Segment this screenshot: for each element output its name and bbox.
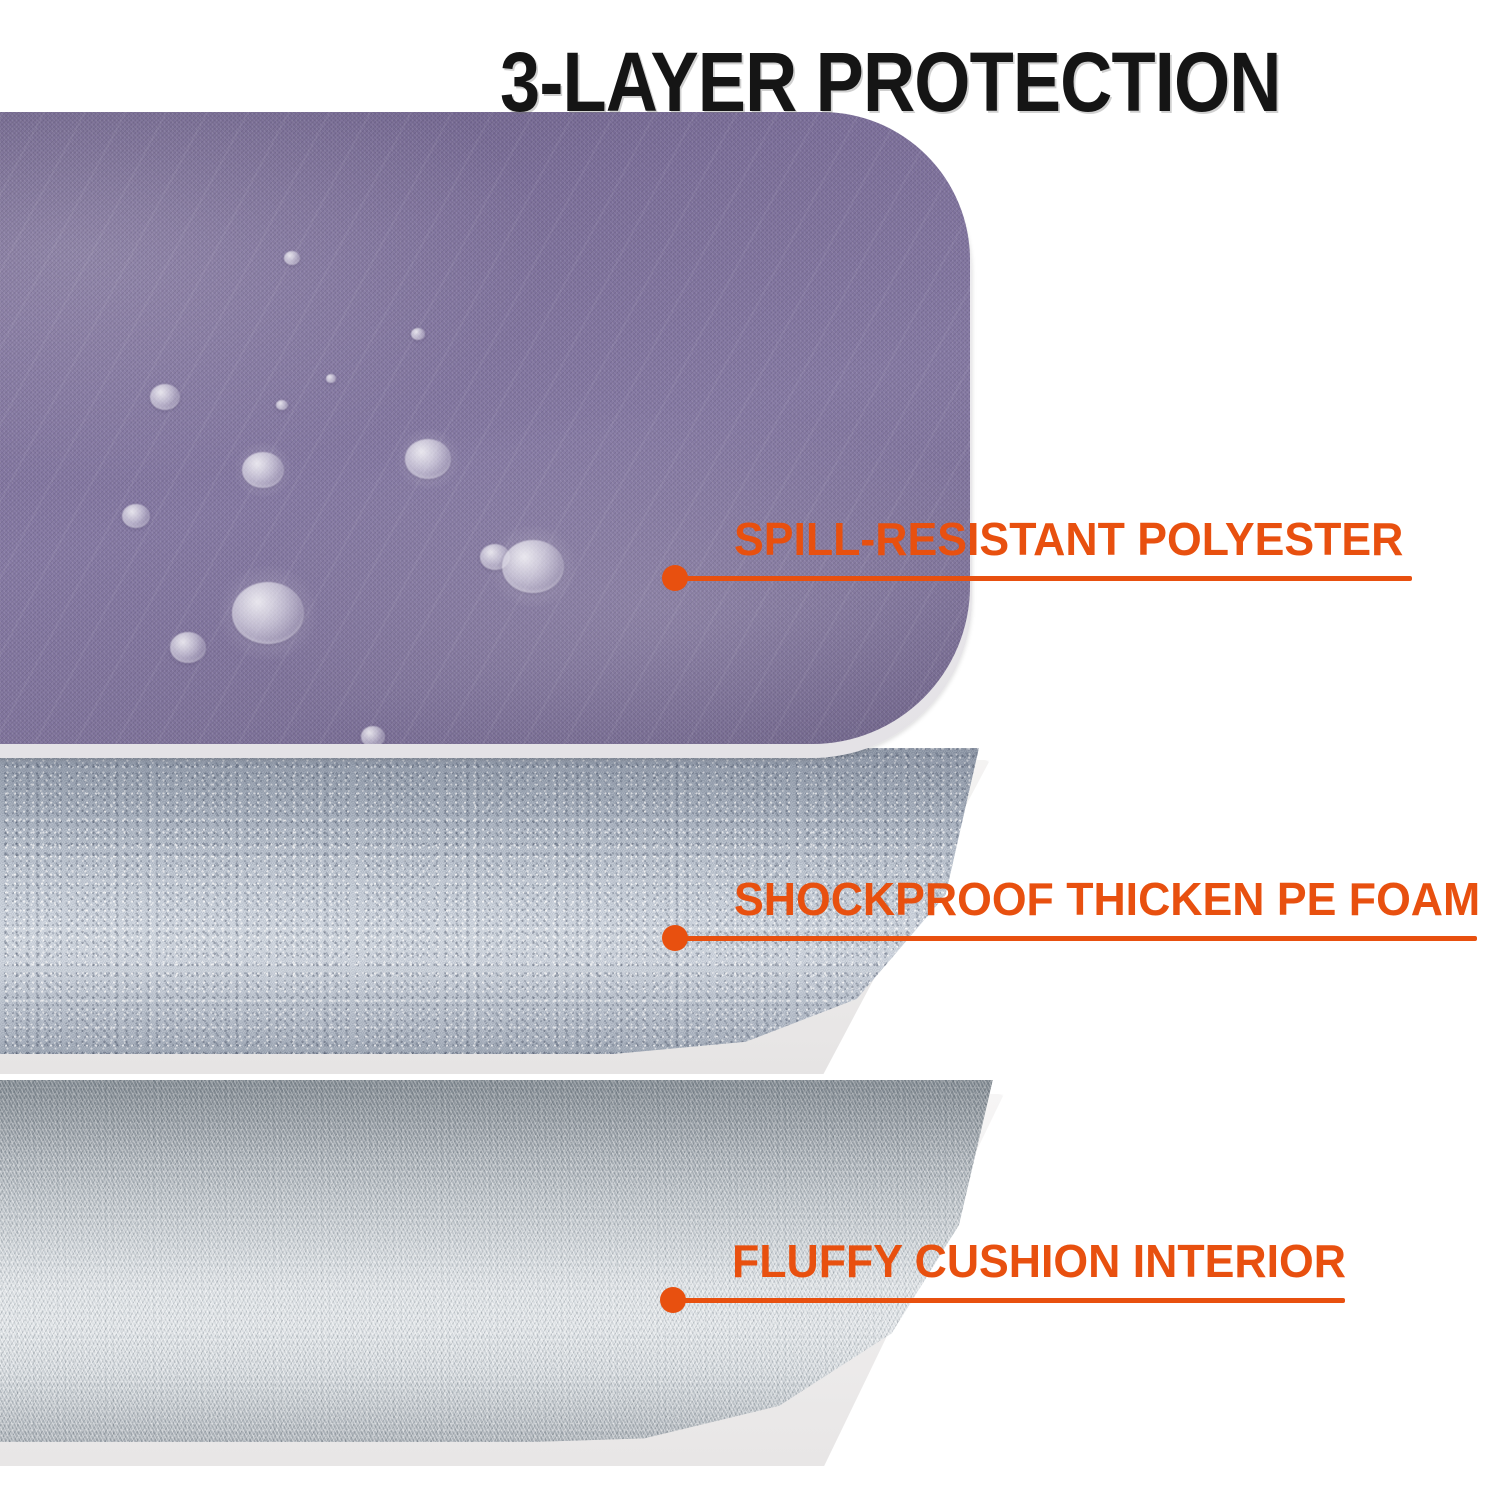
water-droplet (411, 328, 425, 340)
callout-2-leader-line (675, 936, 1477, 941)
water-droplet (170, 632, 206, 663)
page-title: 3-LAYER PROTECTION (500, 34, 1446, 130)
water-droplet (242, 452, 284, 488)
callout-3-leader-line (673, 1298, 1345, 1303)
water-droplet (326, 374, 336, 383)
layer-spill-resistant-polyester (0, 112, 975, 760)
water-droplet (502, 540, 564, 593)
polyester-surface (0, 112, 970, 744)
callout-1-label: SPILL-RESISTANT POLYESTER (734, 514, 1403, 564)
callout-1-leader-line (675, 576, 1412, 581)
water-droplet (122, 504, 150, 528)
water-droplet (284, 251, 300, 265)
water-droplet (150, 384, 180, 410)
callout-3-dot (660, 1287, 686, 1313)
infographic-canvas: 3-LAYER PROTECTION SPILL-RESISTANT POLYE… (0, 0, 1500, 1499)
polyester-sheen (0, 112, 970, 744)
callout-3-label: FLUFFY CUSHION INTERIOR (732, 1236, 1346, 1286)
callout-1-dot (662, 565, 688, 591)
callout-2-dot (662, 925, 688, 951)
water-droplet (405, 439, 451, 479)
water-droplet (232, 582, 304, 644)
callout-2-label: SHOCKPROOF THICKEN PE FOAM (734, 874, 1480, 924)
water-droplet (361, 726, 385, 744)
